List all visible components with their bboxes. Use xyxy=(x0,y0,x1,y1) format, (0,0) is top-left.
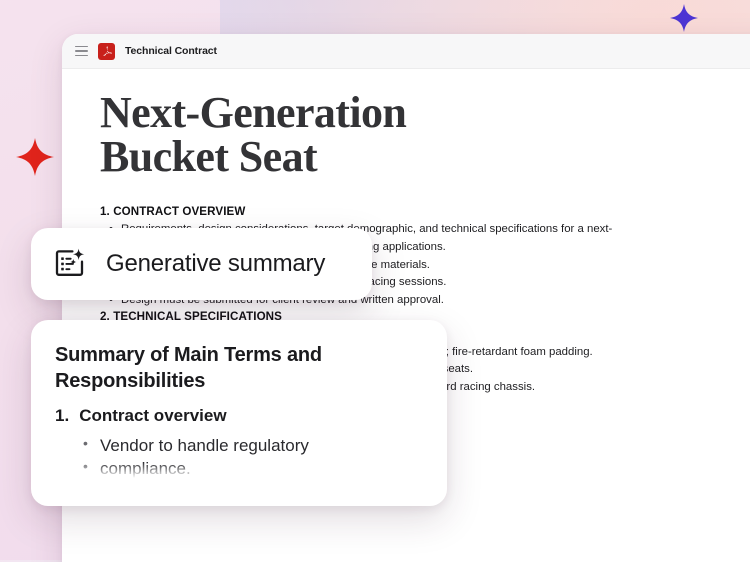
generative-summary-label: Generative summary xyxy=(106,250,325,278)
section-heading: 1. CONTRACT OVERVIEW xyxy=(100,205,750,218)
summary-bullet: Vendor to handle regulatory xyxy=(81,434,425,457)
summary-list-item: 1. Contract overview xyxy=(55,405,425,428)
summary-result-card[interactable]: Summary of Main Terms and Responsibiliti… xyxy=(31,320,447,506)
document-headline: Next-Generation Bucket Seat xyxy=(100,91,530,179)
summary-item-number: 1. xyxy=(55,405,69,428)
hamburger-menu-icon[interactable] xyxy=(75,46,88,57)
generative-summary-card[interactable]: Generative summary xyxy=(31,228,372,300)
sparkle-red-icon xyxy=(16,138,54,176)
summary-bullet-list: Vendor to handle regulatory compliance. xyxy=(55,434,425,481)
generative-summary-icon xyxy=(53,247,87,281)
summary-item-label: Contract overview xyxy=(79,405,226,428)
summary-card-title: Summary of Main Terms and Responsibiliti… xyxy=(55,342,425,395)
document-title: Technical Contract xyxy=(125,45,217,57)
document-toolbar: Technical Contract xyxy=(62,34,750,69)
sparkle-purple-icon xyxy=(670,4,698,32)
summary-bullet-fading: compliance. xyxy=(81,457,425,480)
summary-ordered-list: 1. Contract overview xyxy=(55,405,425,428)
pdf-icon xyxy=(98,43,115,60)
